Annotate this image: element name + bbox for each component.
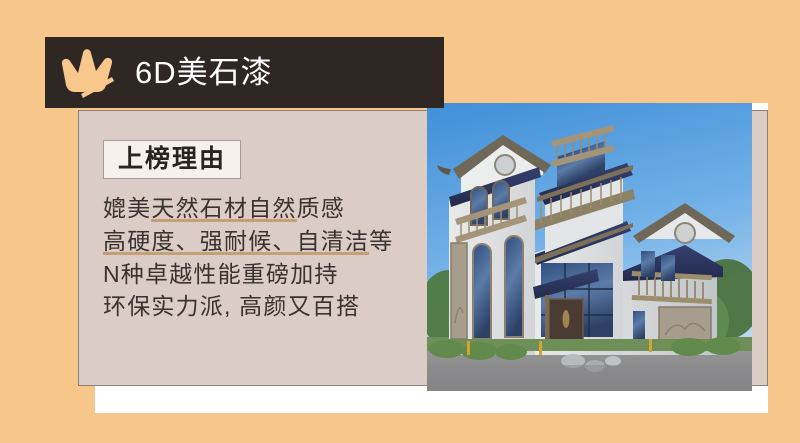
reason-badge: 上榜理由 <box>103 140 241 179</box>
reason-line: N种卓越性能重磅加持 <box>103 258 423 291</box>
reason-line: 媲美天然石材自然质感 <box>103 192 423 225</box>
header-bar: 6D美石漆 <box>45 37 444 108</box>
reason-line: 环保实力派, 高颜又百搭 <box>103 290 423 323</box>
reason-text-plain: 环保实力派, 高颜又百搭 <box>103 293 360 319</box>
reason-badge-label: 上榜理由 <box>118 146 226 172</box>
reason-text-plain: 媲美 <box>103 195 151 221</box>
reason-text-plain: N种卓越性能重磅加持 <box>103 261 339 287</box>
reason-text-column: 上榜理由 媲美天然石材自然质感高硬度、强耐候、自清洁等N种卓越性能重磅加持环保实… <box>103 140 423 323</box>
reason-body: 媲美天然石材自然质感高硬度、强耐候、自清洁等N种卓越性能重磅加持环保实力派, 高… <box>103 192 423 323</box>
reason-text-highlight: 天然石材自然 <box>151 195 296 222</box>
reason-text-highlight: 高硬度、强耐候、自清洁 <box>103 228 369 255</box>
villa-exterior-photo <box>427 103 752 391</box>
reason-line: 高硬度、强耐候、自清洁等 <box>103 225 423 258</box>
promo-banner: 6D美石漆 上榜理由 媲美天然石材自然质感高硬度、强耐候、自清洁等N种卓越性能重… <box>0 0 800 443</box>
crown-icon <box>59 47 117 99</box>
reason-text-plain: 等 <box>369 228 393 254</box>
header-title: 6D美石漆 <box>135 57 273 88</box>
reason-text-plain: 质感 <box>297 195 345 221</box>
